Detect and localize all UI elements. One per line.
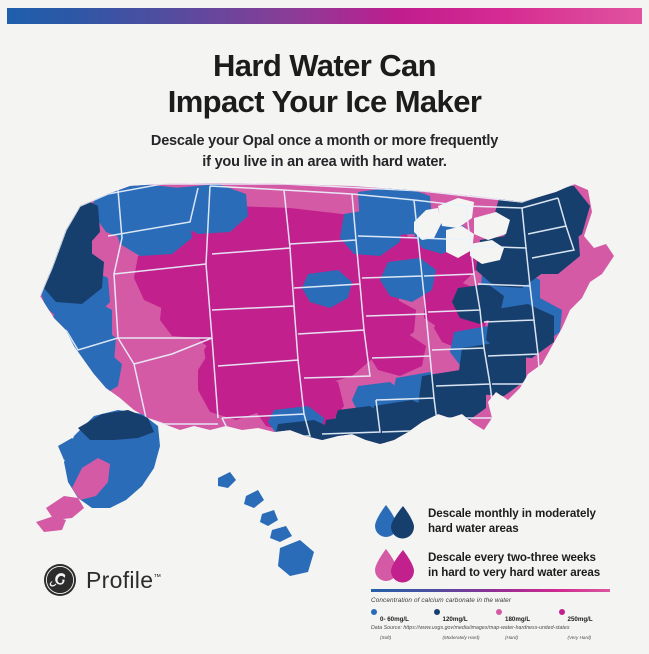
- scale-label: (Very Hard): [568, 635, 592, 640]
- title-line-1: Hard Water Can: [0, 48, 649, 84]
- callout-moderate-line1: Descale monthly in moderately: [428, 507, 596, 520]
- scale-dot-very-hard: [559, 609, 565, 615]
- brand-name: Profile™: [86, 567, 162, 594]
- scale-label: (Hard): [505, 635, 518, 640]
- scale-dot-moderately-hard: [434, 609, 440, 615]
- subtitle-line-1: Descale your Opal once a month or more f…: [0, 131, 649, 152]
- ge-monogram-icon: [43, 563, 77, 597]
- scale-label: (Moderately Hard): [443, 635, 480, 640]
- callout-hard: Descale every two-three weeks in hard to…: [372, 547, 600, 587]
- callout-hard-line2: in hard to very hard water areas: [428, 566, 600, 579]
- scale-value: 0- 60mg/L: [380, 616, 409, 623]
- subtitle-line-2: if you live in an area with hard water.: [0, 152, 649, 173]
- scale-caption: Concentration of calcium carbonate in th…: [371, 597, 613, 604]
- page-title: Hard Water Can Impact Your Ice Maker: [0, 48, 649, 120]
- page-subtitle: Descale your Opal once a month or more f…: [0, 131, 649, 173]
- scale-value: 250mg/L: [568, 616, 593, 623]
- scale-value: 180mg/L: [505, 616, 530, 623]
- callout-hard-line1: Descale every two-three weeks: [428, 551, 596, 564]
- callout-moderate-line2: hard water areas: [428, 522, 519, 535]
- scale-dot-soft: [371, 609, 377, 615]
- infographic-poster: Hard Water Can Impact Your Ice Maker Des…: [0, 0, 649, 654]
- hawaii: [218, 472, 314, 576]
- hardness-scale-legend: Concentration of calcium carbonate in th…: [371, 589, 613, 644]
- scale-dot-hard: [496, 609, 502, 615]
- data-source-note: Data Source: https://www.usgs.gov/media/…: [371, 625, 569, 631]
- scale-gradient-bar: [371, 589, 610, 592]
- callout-moderate-text: Descale monthly in moderately hard water…: [428, 503, 596, 536]
- alaska: [36, 410, 160, 532]
- scale-value: 120mg/L: [443, 616, 468, 623]
- water-drop-icon-blue: [372, 503, 418, 543]
- callout-moderate: Descale monthly in moderately hard water…: [372, 503, 596, 543]
- ge-profile-logo: Profile™: [43, 563, 162, 597]
- callout-hard-text: Descale every two-three weeks in hard to…: [428, 547, 600, 580]
- top-gradient-bar: [7, 8, 642, 24]
- scale-label: (Soft): [380, 635, 391, 640]
- water-drop-icon-pink: [372, 547, 418, 587]
- trademark-symbol: ™: [153, 572, 161, 581]
- title-line-2: Impact Your Ice Maker: [0, 84, 649, 120]
